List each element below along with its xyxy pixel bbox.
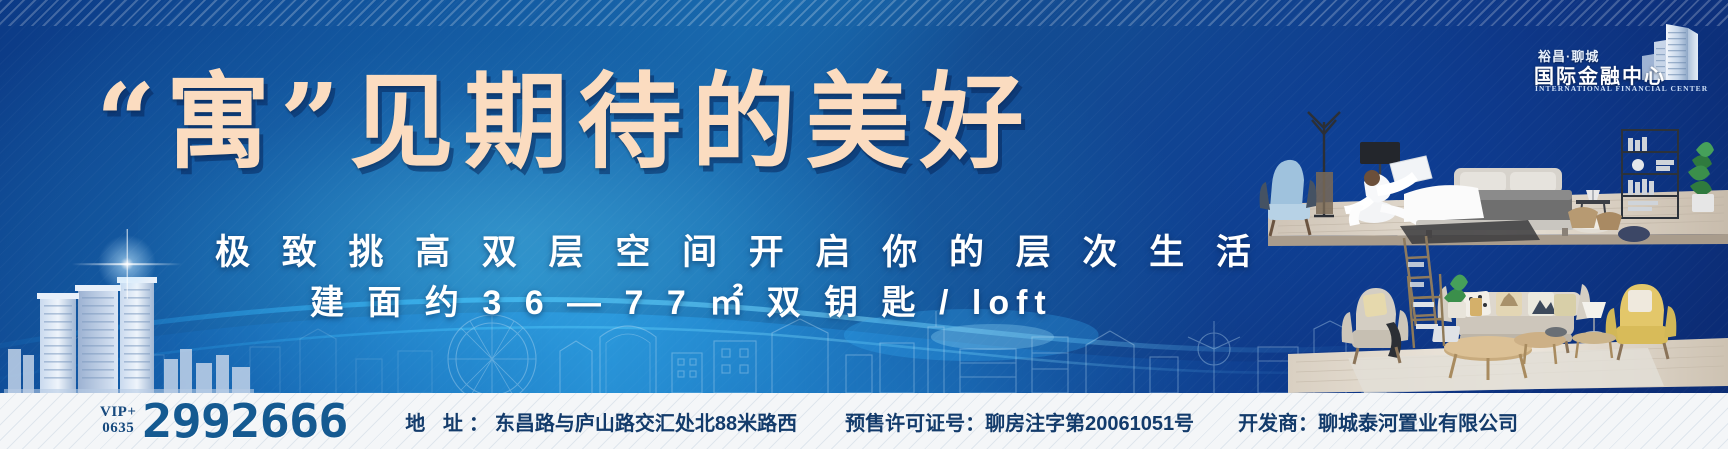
license-label: 预售许可证号： <box>845 413 985 435</box>
license-value: 聊房注字第20061051号 <box>985 413 1194 435</box>
logo-line-3-english: INTERNATIONAL FINANCIAL CENTER <box>1535 84 1708 93</box>
license-item: 预售许可证号：聊房注字第20061051号 <box>845 407 1194 436</box>
area-code: 0635 <box>102 421 134 437</box>
developer-item: 开发商：聊城泰河置业有限公司 <box>1238 407 1518 436</box>
address-label: 地 址： <box>405 413 495 435</box>
subheadline-features: 极 致 挑 高 双 层 空 间 开 启 你 的 层 次 生 活 <box>215 233 1262 273</box>
developer-value: 聊城泰河置业有限公司 <box>1318 413 1518 435</box>
subheadline-area: 建 面 约 3 6 — 7 7 ㎡ 双 钥 匙 / loft <box>310 283 1053 323</box>
top-diagonal-stripe-band <box>0 0 1728 26</box>
developer-label: 开发商： <box>1238 413 1318 435</box>
vip-prefix: VIP+ 0635 <box>100 405 136 437</box>
project-logo: 裕昌·聊城 国际金融中心 INTERNATIONAL FINANCIAL CEN… <box>1532 22 1708 96</box>
advertisement-banner: 裕昌·聊城 国际金融中心 INTERNATIONAL FINANCIAL CEN… <box>0 0 1728 449</box>
address-value: 东昌路与庐山路交汇处北88米路西 <box>495 413 797 435</box>
page-title: “寓”见期待的美好 <box>96 70 1034 174</box>
phone-number[interactable]: 2992666 <box>142 398 348 444</box>
contact-info-bar: VIP+ 0635 2992666 地 址：东昌路与庐山路交汇处北88米路西 预… <box>0 393 1728 449</box>
phone-block[interactable]: VIP+ 0635 2992666 <box>100 398 329 444</box>
vip-label: VIP+ <box>100 405 136 421</box>
address-item: 地 址：东昌路与庐山路交汇处北88米路西 <box>405 407 797 436</box>
